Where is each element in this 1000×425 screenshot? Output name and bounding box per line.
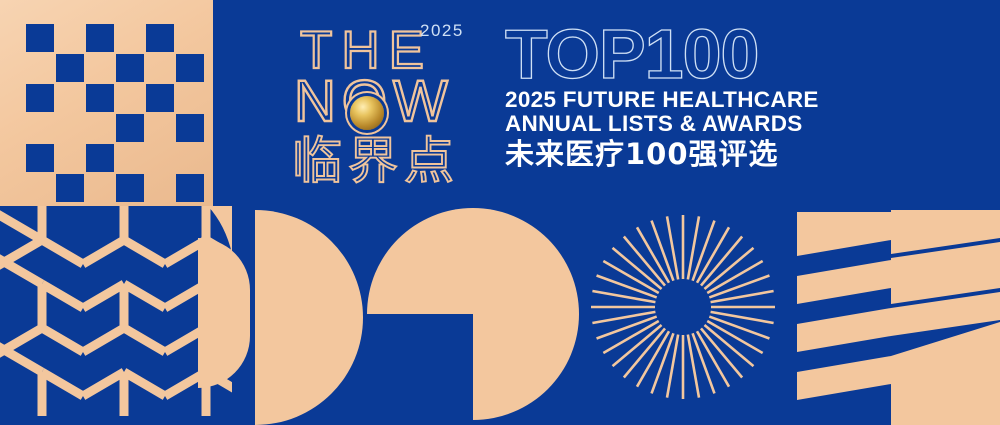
title-block: TOP100 2025 FUTURE HEALTHCARE ANNUAL LIS…: [505, 22, 845, 171]
diagonal-stripes-left: [793, 208, 891, 401]
logo-chinese-name: 临界点: [292, 136, 460, 186]
event-banner: THE 2025 NOW 临界点 TOP100 2025 FUTURE HEAL…: [0, 0, 1000, 425]
notched-circle-cutout: [367, 314, 473, 420]
checker-cell: [56, 54, 84, 82]
english-line-1: 2025 FUTURE HEALTHCARE: [505, 88, 845, 112]
stripes-left-svg: [793, 208, 891, 401]
chinese-subtitle: 未来医疗100强评选: [505, 139, 845, 171]
the-now-logo: THE 2025 NOW 临界点: [292, 18, 492, 198]
half-circle-large: [255, 210, 363, 425]
checker-cell: [26, 144, 54, 172]
checker-cell: [176, 54, 204, 82]
stripes-right-svg: [891, 200, 1000, 425]
sunburst-svg: [588, 212, 778, 402]
checker-cell: [116, 114, 144, 142]
checker-cell: [86, 144, 114, 172]
checkerboard-panel: [0, 0, 213, 206]
notched-circle: [367, 208, 579, 420]
checker-cell: [26, 84, 54, 112]
checker-cell: [176, 114, 204, 142]
headline-top100: TOP100: [505, 22, 845, 86]
checker-cell: [86, 24, 114, 52]
logo-year: 2025: [420, 21, 464, 41]
diagonal-stripes-right: [891, 200, 1000, 425]
half-circle-small: [198, 238, 250, 388]
checker-cell: [176, 174, 204, 202]
sunburst: [588, 212, 778, 402]
english-line-2: ANNUAL LISTS & AWARDS: [505, 112, 845, 136]
checker-cell: [146, 84, 174, 112]
checker-cell: [116, 54, 144, 82]
checker-cell: [116, 174, 144, 202]
checker-cell: [26, 24, 54, 52]
checker-cell: [146, 24, 174, 52]
gold-orb-icon: [350, 96, 384, 130]
checker-cell: [56, 174, 84, 202]
checker-cell: [86, 84, 114, 112]
